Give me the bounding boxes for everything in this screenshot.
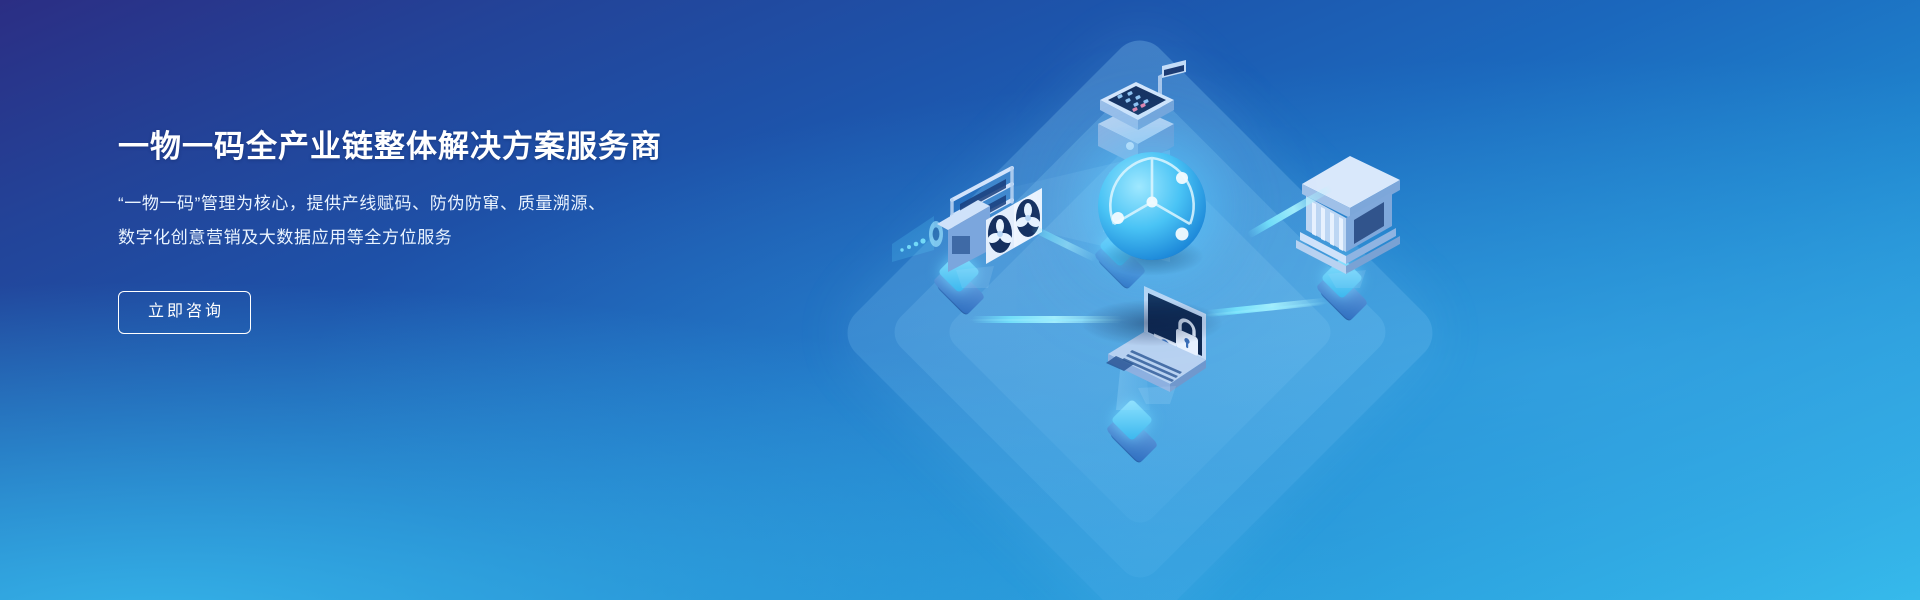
platform-reflection-icon <box>1082 300 1222 346</box>
subtitle-line-1: “一物一码”管理为核心，提供产线赋码、防伪防窜、质量溯源、 <box>118 187 738 221</box>
page-title: 一物一码全产业链整体解决方案服务商 <box>118 128 738 165</box>
isometric-illustration <box>850 0 1630 600</box>
hero-banner: 一物一码全产业链整体解决方案服务商 “一物一码”管理为核心，提供产线赋码、防伪防… <box>0 0 1920 600</box>
cta-container: 立即咨询 <box>118 291 738 334</box>
sphere-network-lines-icon <box>1098 152 1206 260</box>
server-rack-fan-icon <box>890 158 1060 288</box>
hero-copy-block: 一物一码全产业链整体解决方案服务商 “一物一码”管理为核心，提供产线赋码、防伪防… <box>118 128 738 334</box>
subtitle-line-2: 数字化创意营销及大数据应用等全方位服务 <box>118 221 738 255</box>
consult-now-button[interactable]: 立即咨询 <box>118 291 251 334</box>
bank-building-icon <box>1288 148 1438 288</box>
